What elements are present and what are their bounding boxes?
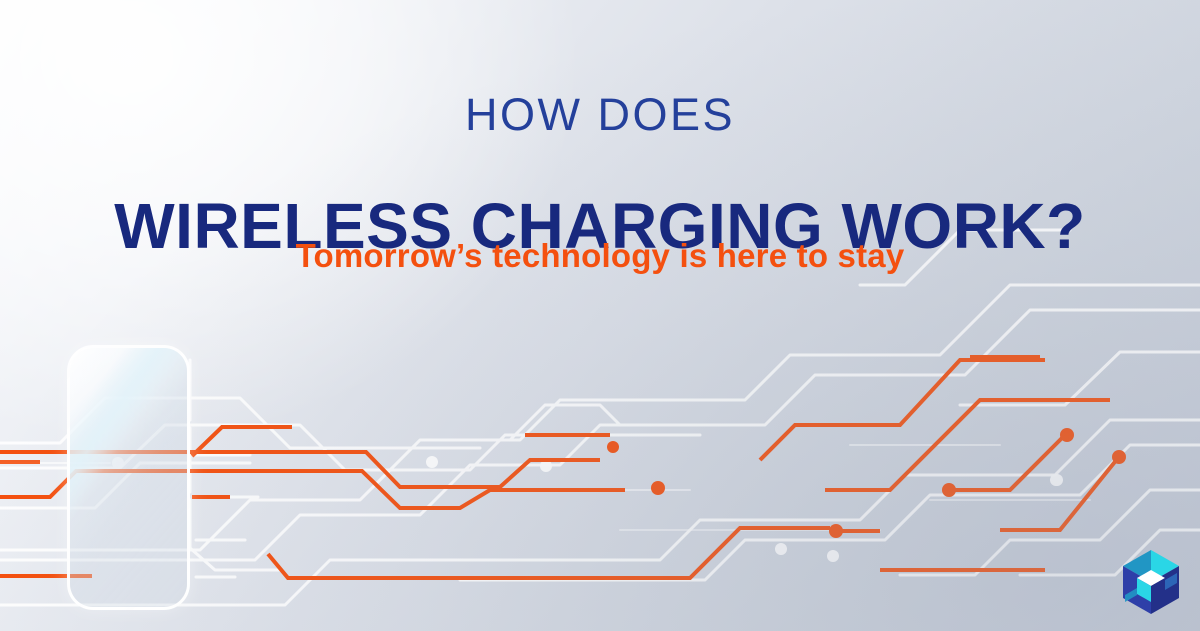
- eyebrow-text: HOW DOES: [0, 92, 1200, 137]
- smartphone-outline: [67, 345, 190, 610]
- isometric-cube-logo[interactable]: [1120, 549, 1182, 615]
- subtitle-text: Tomorrow’s technology is here to stay: [0, 238, 1200, 274]
- banner-root: HOW DOES WIRELESS CHARGING WORK? Tomorro…: [0, 0, 1200, 631]
- phone-screen-sheen: [70, 348, 187, 607]
